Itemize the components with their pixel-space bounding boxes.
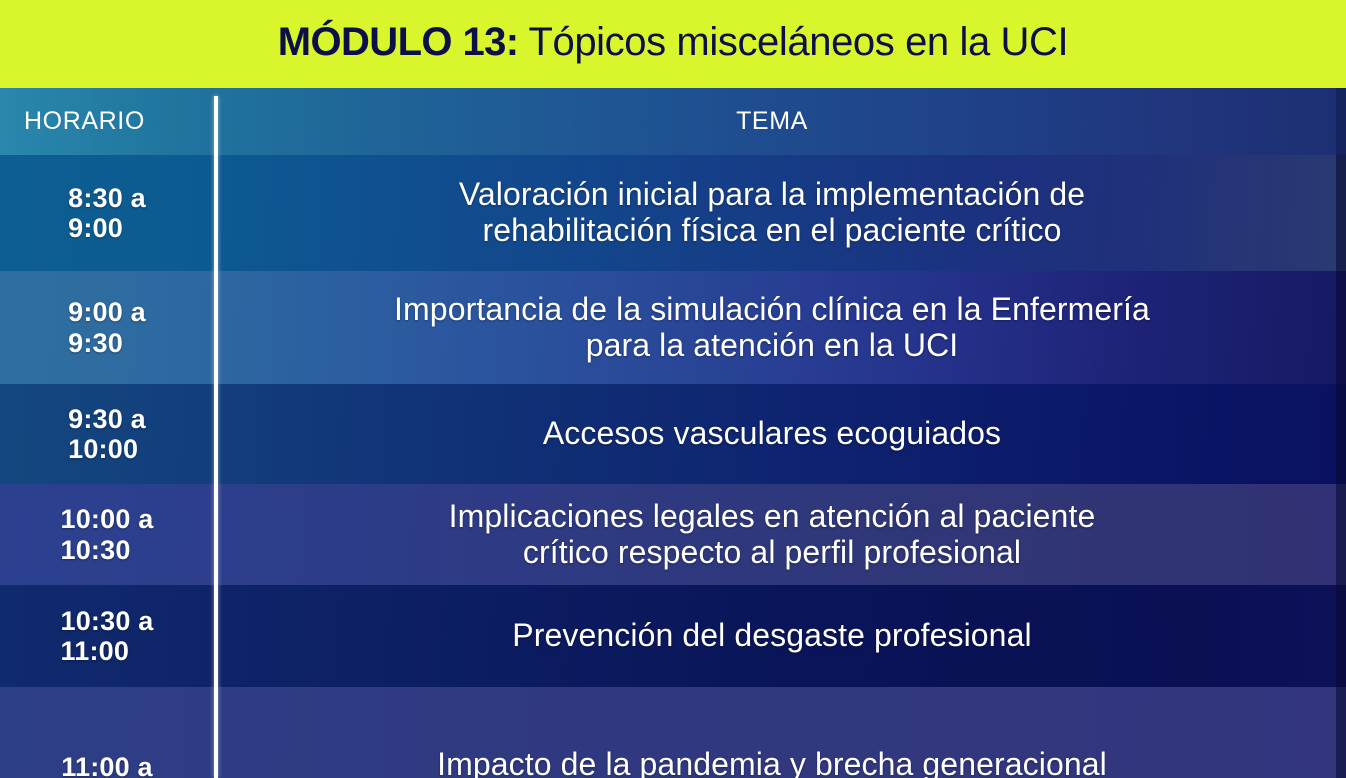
time-start: 8:30 a	[68, 183, 146, 213]
row-topic-cell: Accesos vasculares ecoguiados	[214, 384, 1346, 484]
time-start: 9:30 a	[68, 404, 146, 434]
row-time-cell: 10:00 a 10:30	[0, 484, 214, 585]
time-end: 10:30	[61, 535, 154, 565]
topic-line-1: Impacto de la pandemia y brecha generaci…	[437, 747, 1107, 778]
time-start: 10:30 a	[61, 606, 154, 636]
page-title: MÓDULO 13: Tópicos misceláneos en la UCI	[278, 21, 1068, 63]
table-row: 8:30 a 9:00 Valoración inicial para la i…	[0, 155, 1346, 271]
page-title-subject: Tópicos misceláneos en la UCI	[518, 20, 1068, 64]
time-end: 9:00	[68, 213, 146, 243]
title-banner: MÓDULO 13: Tópicos misceláneos en la UCI	[0, 0, 1346, 88]
column-header-horario: HORARIO	[0, 88, 214, 155]
topic-line-1: Accesos vasculares ecoguiados	[543, 416, 1001, 452]
time-block: 11:00 a 11:30	[61, 752, 152, 778]
row-topic-cell: Importancia de la simulación clínica en …	[214, 271, 1346, 384]
topic-line-1: Importancia de la simulación clínica en …	[394, 292, 1150, 328]
time-end: 11:00	[61, 636, 154, 666]
topic-line-2: para la atención en la UCI	[394, 328, 1150, 364]
schedule-table: HORARIO TEMA 8:30 a 9:00 Valoración inic…	[0, 88, 1346, 778]
topic-text: Impacto de la pandemia y brecha generaci…	[437, 747, 1107, 778]
time-block: 10:00 a 10:30	[61, 504, 154, 564]
time-block: 8:30 a 9:00	[68, 183, 146, 243]
slide-root: MÓDULO 13: Tópicos misceláneos en la UCI…	[0, 0, 1346, 778]
page-title-module: MÓDULO 13:	[278, 20, 519, 64]
table-row: 10:00 a 10:30 Implicaciones legales en a…	[0, 484, 1346, 585]
time-end: 9:30	[68, 328, 146, 358]
table-row: 10:30 a 11:00 Prevención del desgaste pr…	[0, 585, 1346, 687]
time-block: 9:00 a 9:30	[68, 297, 146, 357]
table-header-row: HORARIO TEMA	[0, 88, 1346, 155]
topic-text: Valoración inicial para la implementació…	[459, 177, 1085, 249]
row-topic-cell: Impacto de la pandemia y brecha generaci…	[214, 687, 1346, 778]
table-row: 9:00 a 9:30 Importancia de la simulación…	[0, 271, 1346, 384]
row-topic-cell: Implicaciones legales en atención al pac…	[214, 484, 1346, 585]
time-start: 9:00 a	[68, 297, 146, 327]
topic-line-1: Prevención del desgaste profesional	[512, 618, 1031, 654]
time-end: 10:00	[68, 434, 146, 464]
column-header-tema: TEMA	[214, 88, 1346, 155]
table-row: 9:30 a 10:00 Accesos vasculares ecoguiad…	[0, 384, 1346, 484]
row-time-cell: 11:00 a 11:30	[0, 687, 214, 778]
topic-line-2: crítico respecto al perfil profesional	[449, 535, 1096, 571]
time-block: 10:30 a 11:00	[61, 606, 154, 666]
topic-text: Importancia de la simulación clínica en …	[394, 292, 1150, 364]
row-time-cell: 10:30 a 11:00	[0, 585, 214, 687]
topic-text: Prevención del desgaste profesional	[512, 618, 1031, 654]
row-topic-cell: Prevención del desgaste profesional	[214, 585, 1346, 687]
table-row: 11:00 a 11:30 Impacto de la pandemia y b…	[0, 687, 1346, 778]
row-time-cell: 8:30 a 9:00	[0, 155, 214, 271]
row-time-cell: 9:00 a 9:30	[0, 271, 214, 384]
time-block: 9:30 a 10:00	[68, 404, 146, 464]
row-topic-cell: Valoración inicial para la implementació…	[214, 155, 1346, 271]
topic-line-2: rehabilitación física en el paciente crí…	[459, 213, 1085, 249]
row-time-cell: 9:30 a 10:00	[0, 384, 214, 484]
topic-text: Implicaciones legales en atención al pac…	[449, 499, 1096, 571]
topic-line-1: Implicaciones legales en atención al pac…	[449, 499, 1096, 535]
time-start: 10:00 a	[61, 504, 154, 534]
topic-line-1: Valoración inicial para la implementació…	[459, 177, 1085, 213]
topic-text: Accesos vasculares ecoguiados	[543, 416, 1001, 452]
time-start: 11:00 a	[61, 752, 152, 778]
